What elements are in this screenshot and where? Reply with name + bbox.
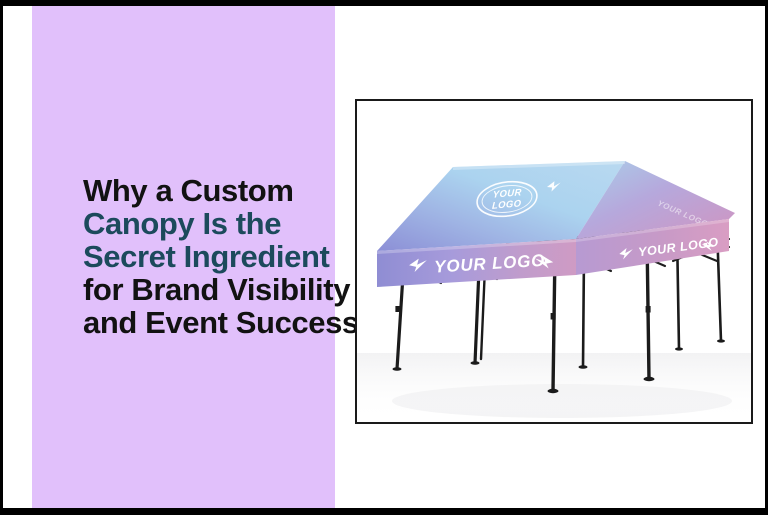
canopy-illustration: YOUR LOGO YOUR LOGO bbox=[357, 101, 751, 422]
headline-line-2: Canopy Is the bbox=[83, 206, 281, 241]
product-image-frame: YOUR LOGO YOUR LOGO bbox=[355, 99, 753, 424]
canopy-photo: YOUR LOGO YOUR LOGO bbox=[357, 101, 751, 422]
headline-line-4: for Brand Visibility bbox=[83, 272, 350, 307]
headline-line-5: and Event Success bbox=[83, 305, 359, 340]
headline-panel: Why a Custom Canopy Is the Secret Ingred… bbox=[32, 6, 335, 508]
page-title: Why a Custom Canopy Is the Secret Ingred… bbox=[83, 174, 361, 339]
headline-line-3: Secret Ingredient bbox=[83, 239, 329, 274]
headline-line-1: Why a Custom bbox=[83, 173, 294, 208]
article-card: Why a Custom Canopy Is the Secret Ingred… bbox=[0, 0, 768, 515]
